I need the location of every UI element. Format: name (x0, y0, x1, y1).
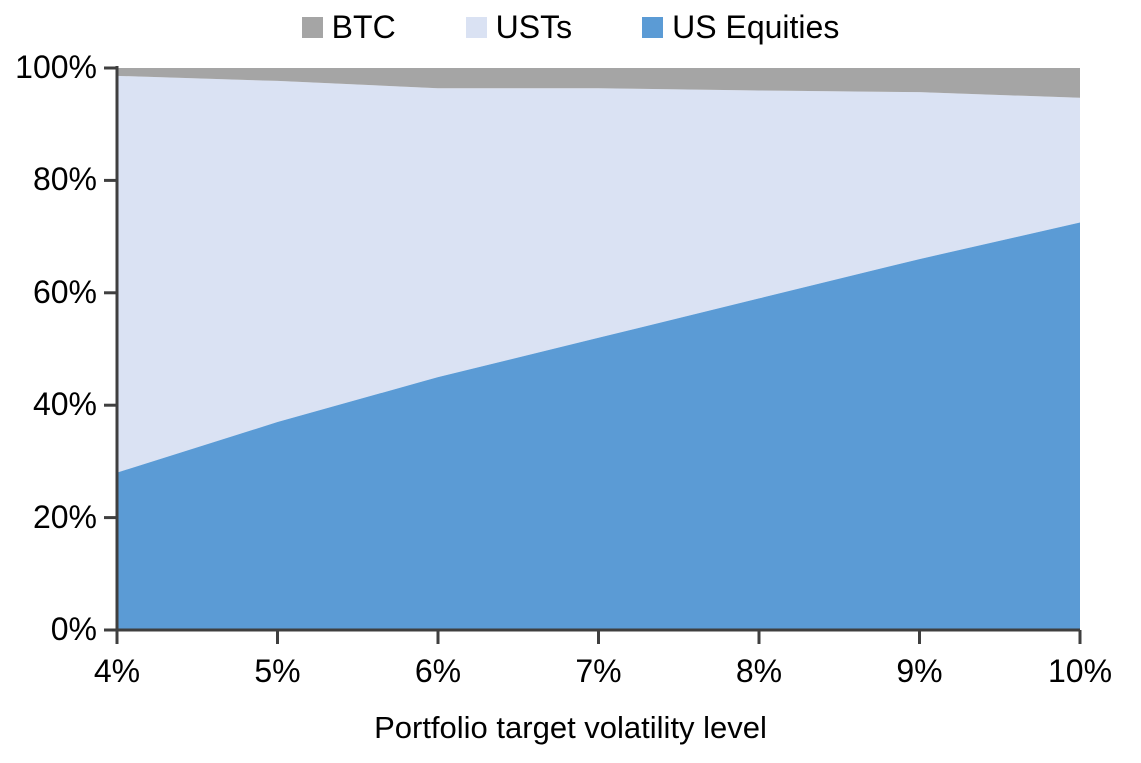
plot-svg (0, 0, 1141, 763)
y-axis-tick-label: 80% (33, 163, 97, 195)
x-axis-tick-label: 6% (415, 655, 461, 687)
y-axis-tick-label: 20% (33, 501, 97, 533)
x-axis-tick-marks (117, 630, 1080, 644)
x-axis-title: Portfolio target volatility level (0, 712, 1141, 743)
x-axis-tick-label: 8% (736, 655, 782, 687)
y-axis-tick-label: 40% (33, 388, 97, 420)
area-series-group (117, 68, 1080, 630)
stacked-area-chart: BTC USTs US Equities 0%20%40%60%8 (0, 0, 1141, 763)
y-axis-tick-label: 60% (33, 276, 97, 308)
plot-area: 0%20%40%60%80%100% 4%5%6%7%8%9%10% (0, 0, 1141, 763)
x-axis-tick-label: 7% (575, 655, 621, 687)
y-axis-tick-label: 100% (15, 51, 97, 83)
y-axis-tick-marks (104, 68, 117, 630)
y-axis-tick-label: 0% (51, 613, 97, 645)
x-axis-tick-label: 9% (896, 655, 942, 687)
x-axis-tick-label: 4% (94, 655, 140, 687)
x-axis-tick-label: 5% (254, 655, 300, 687)
x-axis-tick-label: 10% (1048, 655, 1112, 687)
